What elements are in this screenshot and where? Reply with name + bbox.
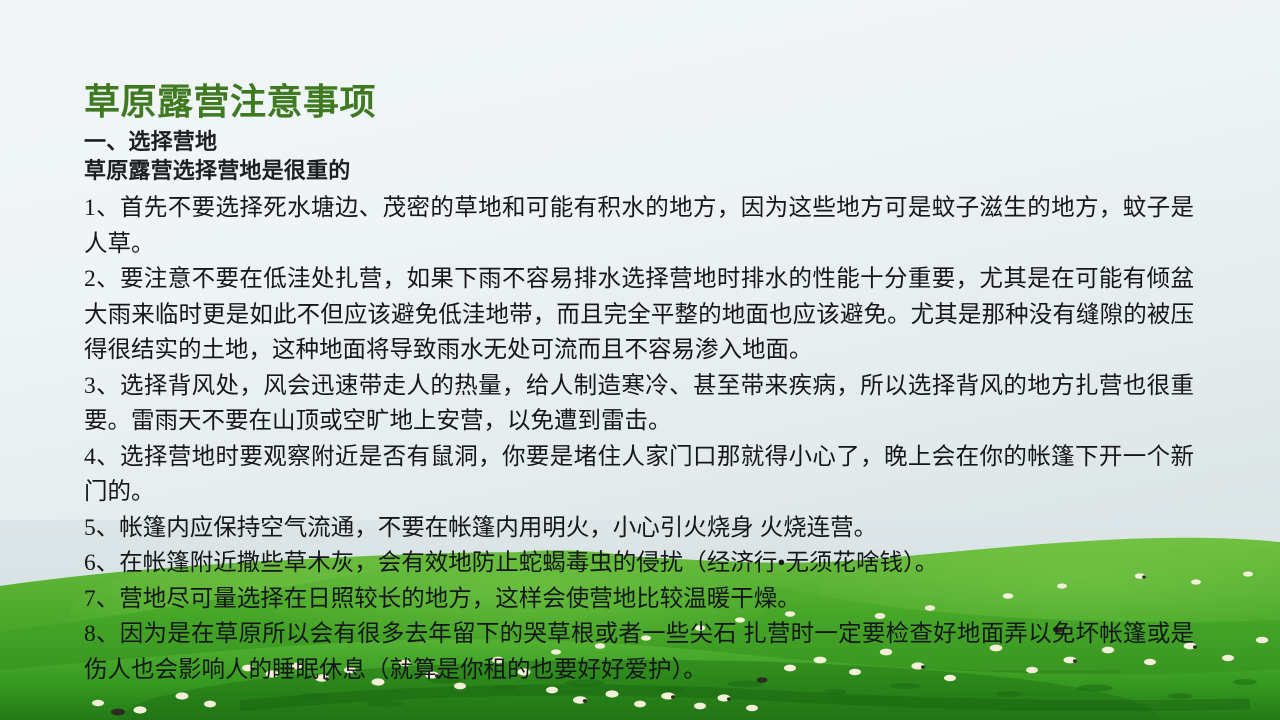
paragraph-6: 6、在帐篷附近撒些草木灰，会有效地防止蛇蝎毒虫的侵扰（经济行•无须花啥钱）。 [84,546,1194,582]
paragraph-4: 4、选择营地时要观察附近是否有鼠洞，你要是堵住人家门口那就得小心了，晚上会在你的… [84,440,1194,511]
paragraph-5: 5、帐篷内应保持空气流通，不要在帐篷内用明火，小心引火烧身 火烧连营。 [84,511,1194,547]
paragraph-1: 1、首先不要选择死水塘边、茂密的草地和可能有积水的地方，因为这些地方可是蚊子滋生… [84,191,1194,262]
slide-canvas: 草原露营注意事项 一、选择营地 草原露营选择营地是很重的 1、首先不要选择死水塘… [0,0,1280,720]
sub-heading: 草原露营选择营地是很重的 [84,156,1194,185]
paragraph-8: 8、因为是在草原所以会有很多去年留下的哭草根或者一些尖石 扎营时一定要检查好地面… [84,617,1194,688]
paragraph-3: 3、选择背风处，风会迅速带走人的热量，给人制造寒冷、甚至带来疾病，所以选择背风的… [84,369,1194,440]
paragraph-2: 2、要注意不要在低洼处扎营，如果下雨不容易排水选择营地时排水的性能十分重要，尤其… [84,262,1194,369]
section-heading: 一、选择营地 [84,127,1194,156]
body-paragraphs: 1、首先不要选择死水塘边、茂密的草地和可能有积水的地方，因为这些地方可是蚊子滋生… [84,191,1194,688]
page-title: 草原露营注意事项 [84,80,1194,124]
slide-content: 草原露营注意事项 一、选择营地 草原露营选择营地是很重的 1、首先不要选择死水塘… [84,80,1194,688]
paragraph-7: 7、营地尽可量选择在日照较长的地方，这样会使营地比较温暖干燥。 [84,582,1194,618]
